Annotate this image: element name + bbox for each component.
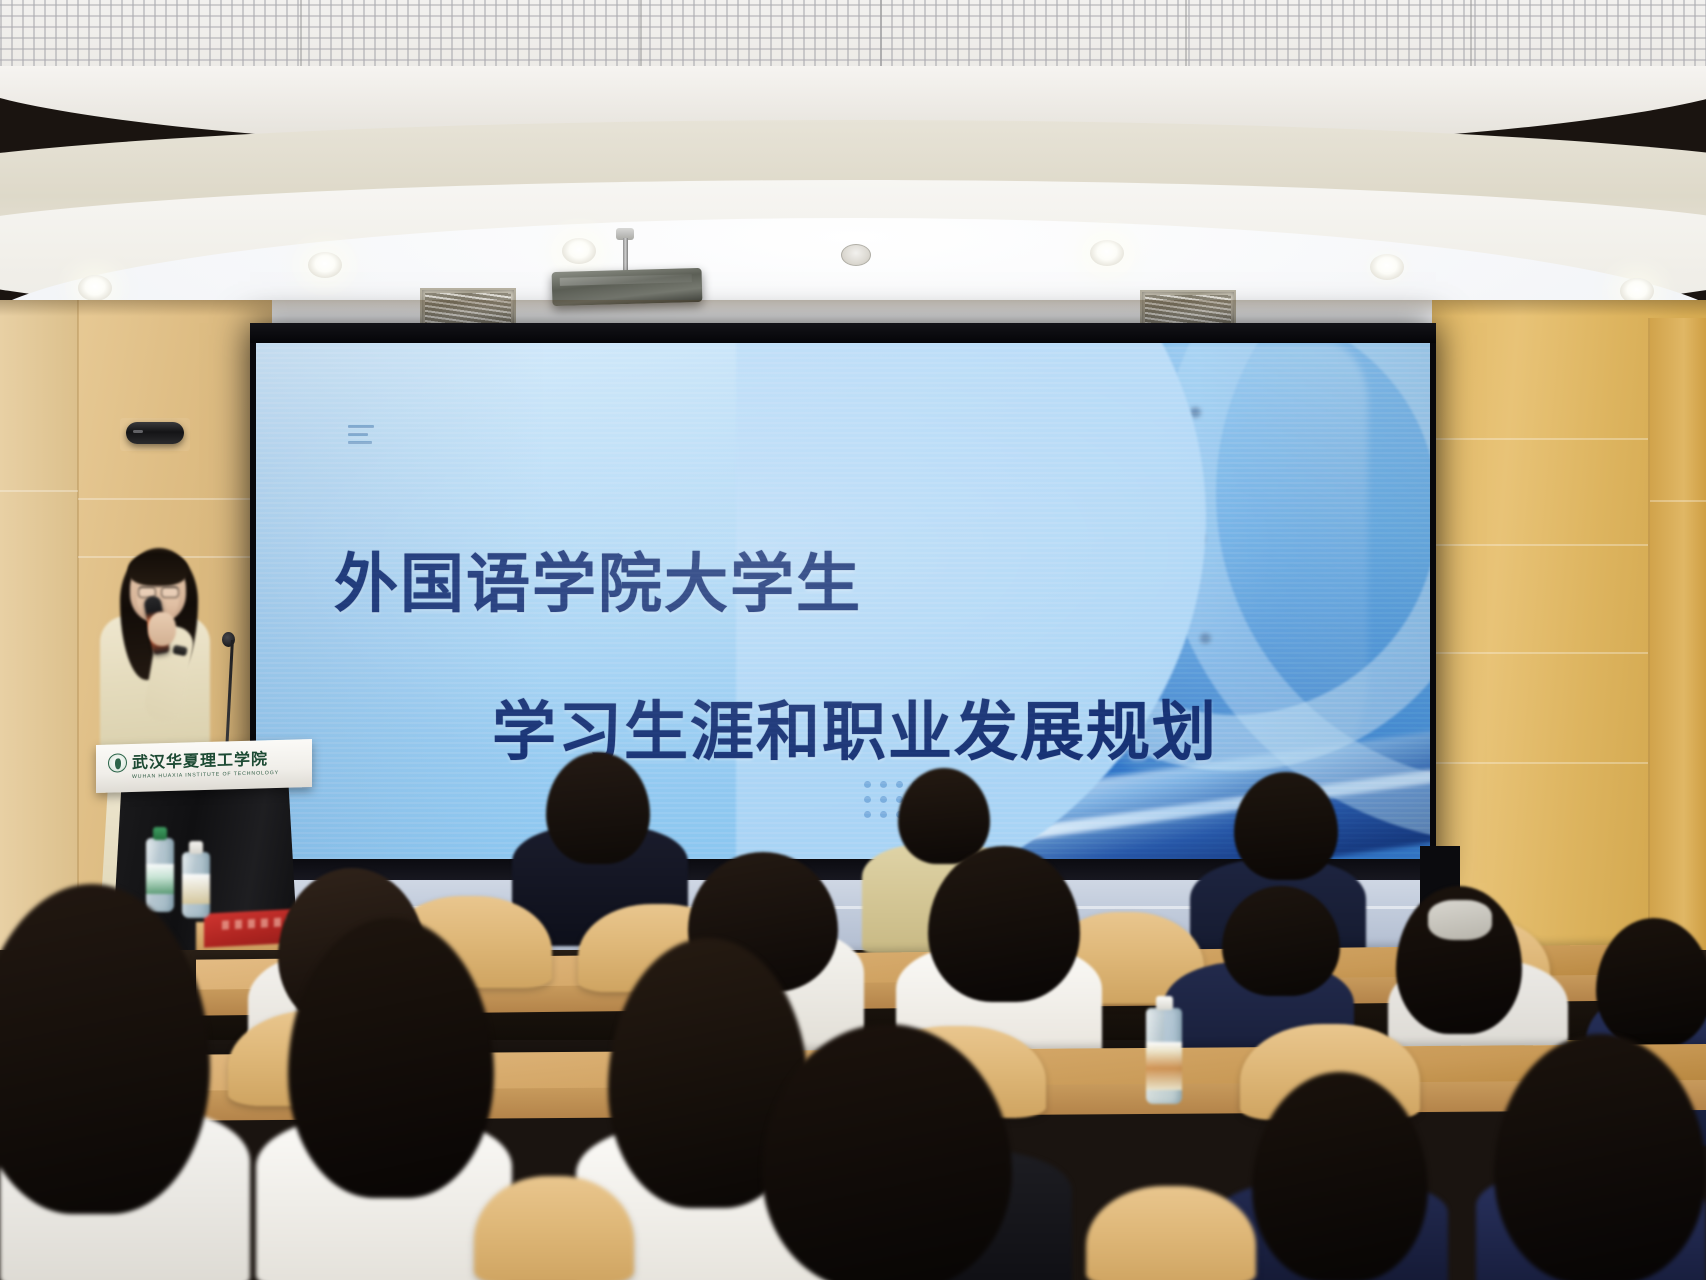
perforated-acoustic-ceiling [0, 0, 1706, 72]
person-hair [898, 768, 990, 864]
bottle-cap [1156, 996, 1173, 1010]
water-bottle [182, 852, 210, 918]
ceiling-panel-seam [1185, 0, 1187, 72]
slide-title-line1: 外国语学院大学生 [334, 533, 862, 625]
university-seal-icon [108, 753, 127, 773]
wall-panel-seam [1432, 762, 1648, 764]
ceiling-downlight [562, 238, 596, 264]
lecture-hall-photo: 外国语学院大学生 学习生涯和职业发展规划 武汉华 [0, 0, 1706, 1280]
screen-bezel [250, 323, 1436, 343]
bottle-label [146, 864, 174, 894]
wall-panel-seam [78, 498, 272, 500]
bottle-cap [153, 827, 167, 840]
wall-panel-seam [1432, 652, 1648, 654]
ceiling-panel-seam [640, 0, 642, 72]
speaker-hair-fringe [128, 552, 188, 586]
water-bottle [1146, 1008, 1182, 1104]
bottle-cap [189, 841, 203, 854]
ceiling-downlight [308, 252, 342, 278]
hamburger-icon [348, 425, 374, 449]
ceiling-panel-seam [1470, 0, 1472, 72]
speaker-hand [148, 612, 176, 646]
water-bottle [146, 838, 174, 912]
ceiling-speaker [841, 244, 871, 266]
wall-panel-seam [1650, 500, 1706, 502]
ceiling-panel-seam [880, 0, 882, 72]
wall-panel-seam [1432, 438, 1648, 440]
wall-speaker [126, 422, 184, 444]
wall-panel-seam [0, 490, 78, 492]
ceiling-downlight [78, 275, 112, 301]
person-hair-tie [1428, 900, 1492, 940]
ceiling-panel-seam [300, 0, 302, 72]
bottle-label [182, 874, 210, 904]
slide-surface: 外国语学院大学生 学习生涯和职业发展规划 [256, 343, 1430, 859]
bottle-label [1146, 1042, 1182, 1090]
wall-panel-seam [1432, 544, 1648, 546]
ceiling-downlight [1370, 254, 1404, 280]
wall-ceiling-shadow [0, 300, 1706, 316]
podium-institution-name-cn: 武汉华夏理工学院 [132, 751, 268, 771]
ceiling-downlight [1090, 240, 1124, 266]
speaker-glasses [138, 586, 179, 595]
